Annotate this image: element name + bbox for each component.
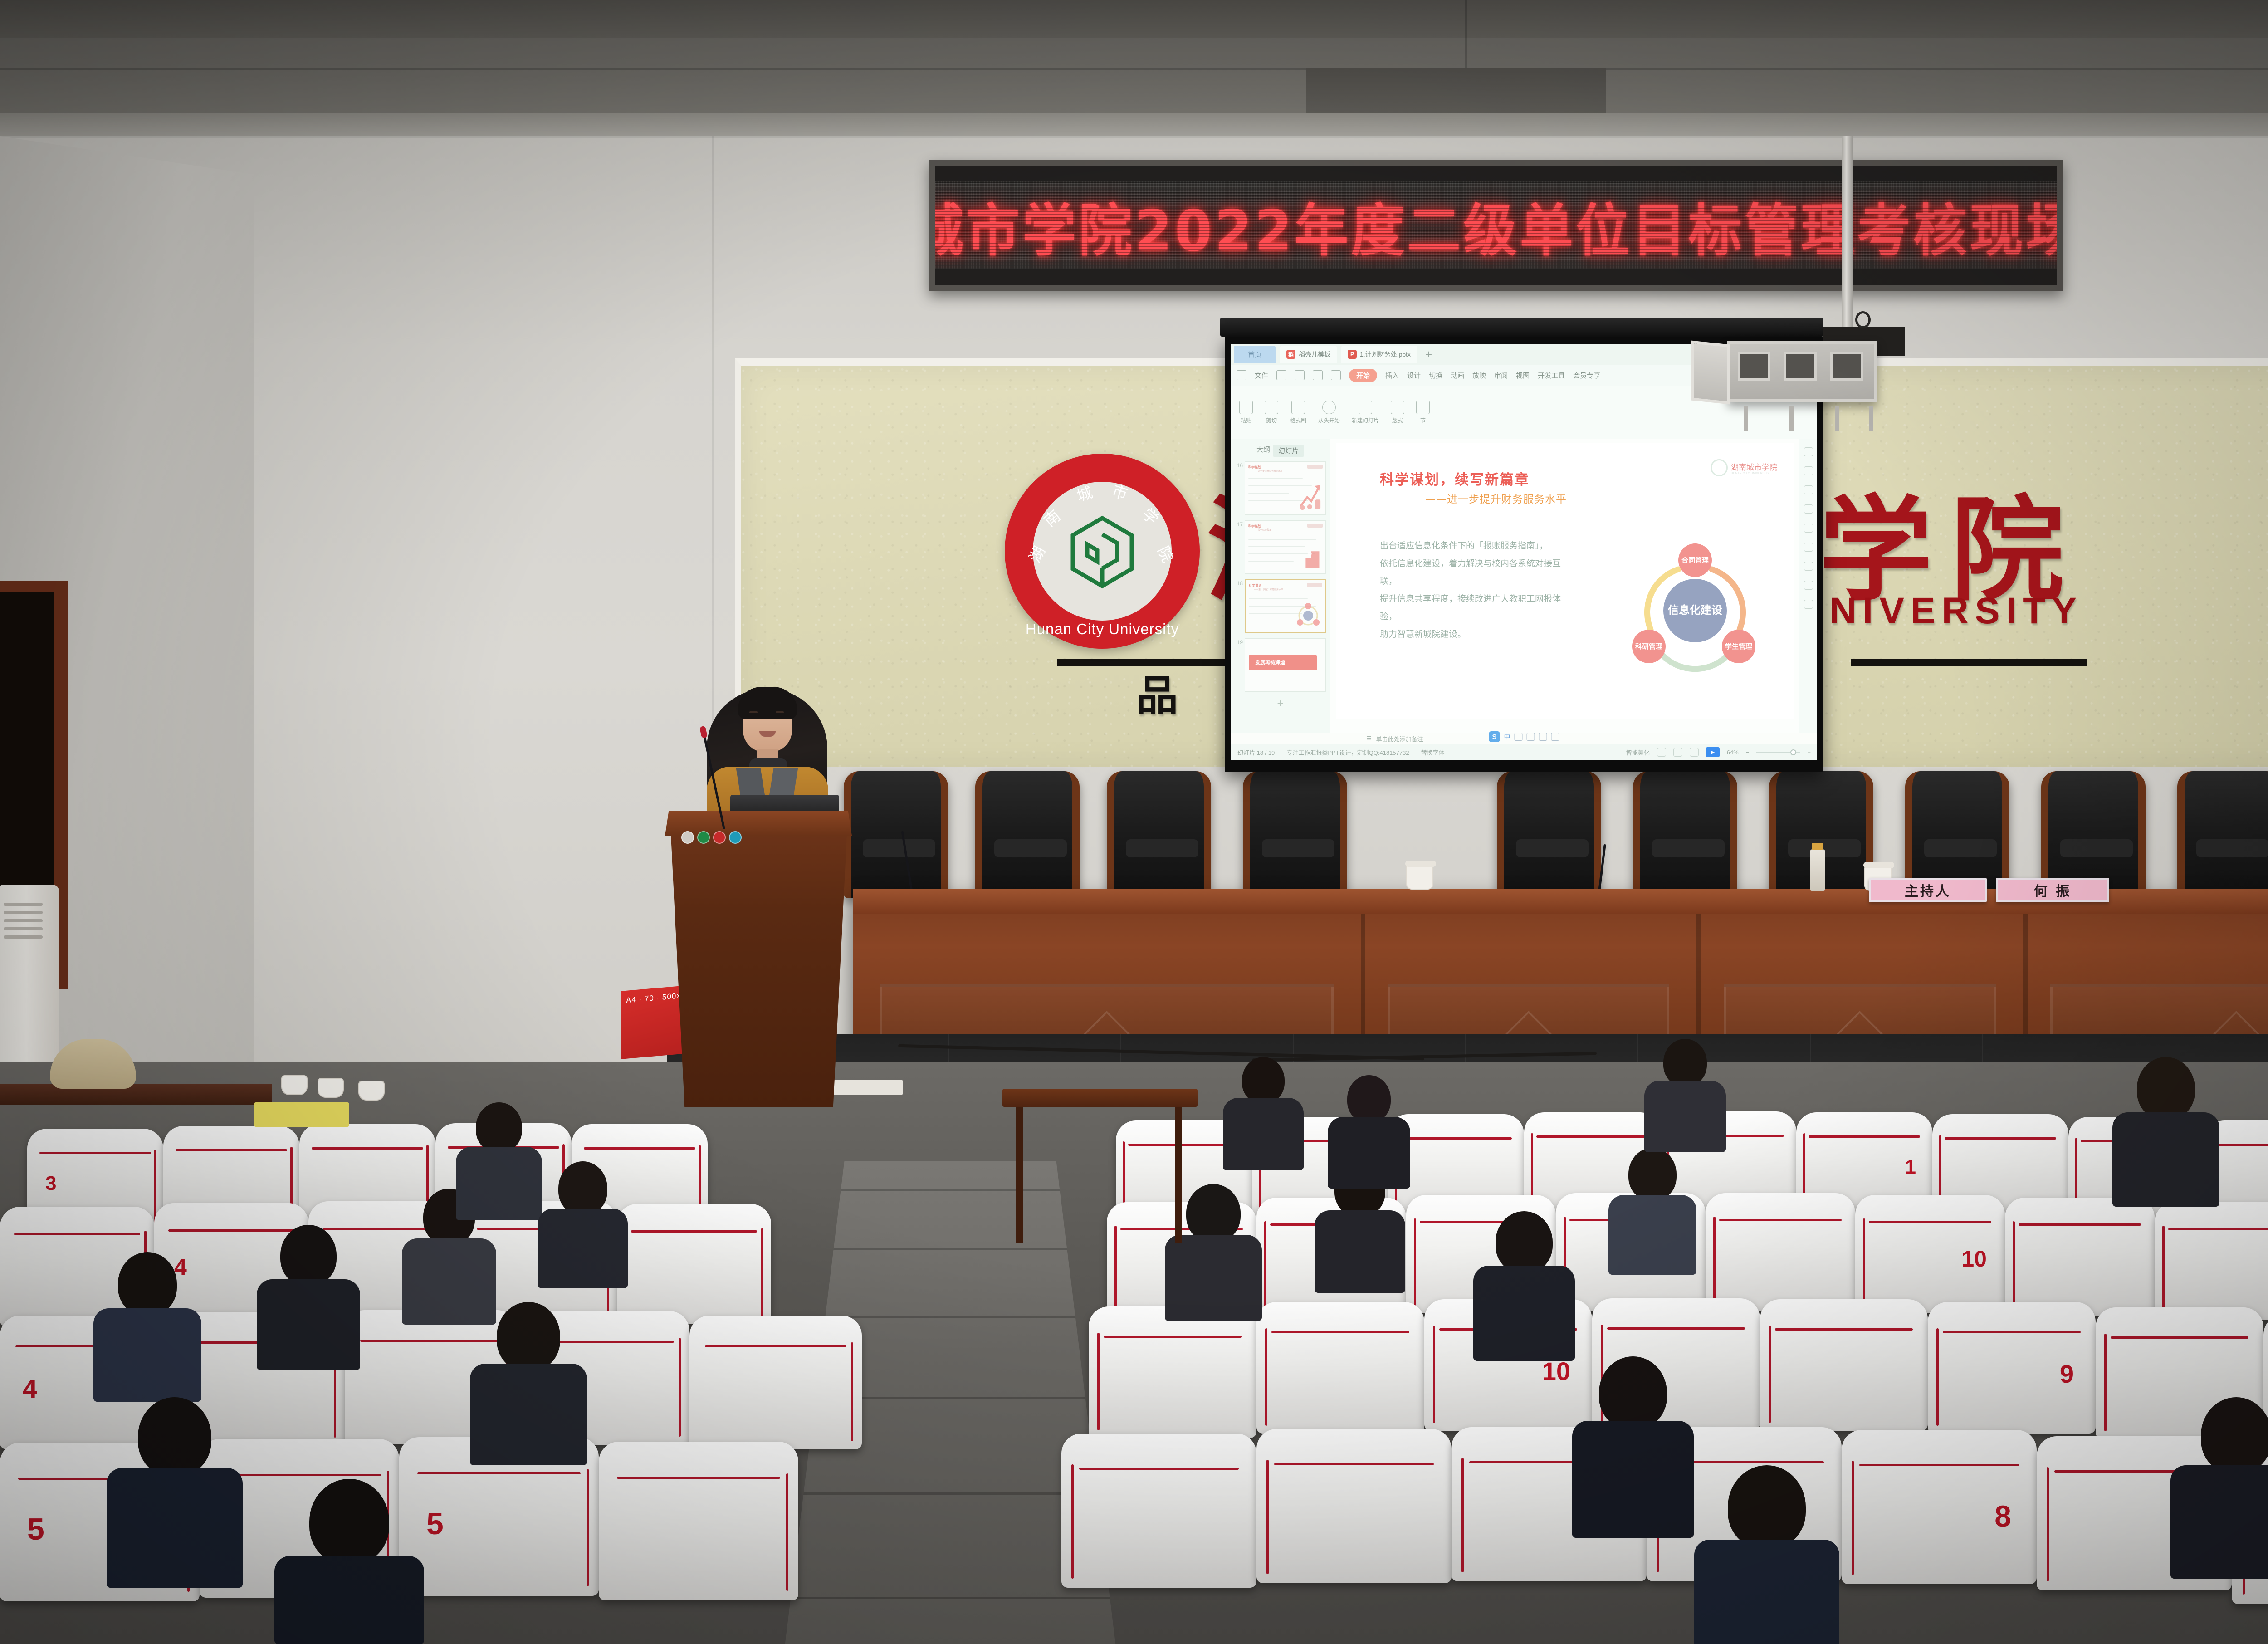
diagram-node-contract: 合同管理	[1678, 543, 1712, 577]
projected-image: 首页 稻 稻壳儿模板 P 1.计划财务处.pptx + 文件	[1231, 344, 1817, 760]
teacup	[318, 1078, 344, 1098]
ribbon-button-start-show[interactable]: 从头开始	[1318, 401, 1340, 424]
audience-seat[interactable]	[599, 1442, 798, 1600]
name-placard-host: 主持人	[1869, 878, 1987, 902]
university-emblem: 湖 南 城 市 学 院 Hunan City University	[1005, 454, 1200, 649]
new-slide-icon	[1359, 401, 1372, 414]
section-icon	[1416, 401, 1430, 414]
audience-member	[272, 1479, 426, 1644]
slide-logo-subtext: HUNAN CITY UNIVERSITY	[1731, 472, 1777, 475]
thumbnail-number: 17	[1235, 520, 1243, 528]
projection-screen-housing	[1220, 318, 1823, 337]
zoom-out-button[interactable]: −	[1746, 749, 1750, 756]
executive-chair[interactable]	[1633, 771, 1737, 898]
slide-subtitle: ——进一步提升财务服务水平	[1425, 490, 1567, 506]
audience-seat[interactable]	[1256, 1429, 1452, 1583]
water-bottle	[1810, 849, 1825, 891]
slide-logo-text: 湖南城市学院	[1731, 461, 1777, 472]
audience-member	[1642, 1039, 1728, 1152]
ribbon-button-format-painter[interactable]: 格式刷	[1290, 401, 1306, 424]
podium-badge-row	[681, 831, 742, 844]
slide-editing-area[interactable]: 湖南城市学院 HUNAN CITY UNIVERSITY 科学谋划，续写新篇章 …	[1330, 439, 1799, 733]
audience-member	[1325, 1075, 1413, 1189]
ribbon-tab-member[interactable]: 会员专享	[1573, 371, 1600, 380]
ribbon-tab-home[interactable]: 开始	[1349, 369, 1377, 382]
status-bar: 幻灯片 18 / 19 专注工作汇报类PPT设计，定制QQ:418157732 …	[1231, 744, 1817, 760]
ceiling-beam-recess	[1306, 68, 1606, 113]
notes-pane[interactable]: ☰ 单击此处添加备注	[1330, 733, 1799, 744]
led-frame-top	[935, 166, 2057, 181]
emblem-english-text: Hunan City University	[1005, 621, 1200, 638]
redo-icon[interactable]	[1331, 370, 1341, 380]
play-icon	[1322, 401, 1336, 414]
ime-toolbox-icon[interactable]	[1539, 733, 1547, 741]
audience-member	[1692, 1465, 1842, 1644]
shapes-icon[interactable]	[1804, 504, 1813, 514]
executive-chair[interactable]	[1243, 771, 1347, 898]
thumb-logo-icon	[1307, 583, 1322, 587]
ribbon-tab-animation[interactable]: 动画	[1451, 371, 1464, 380]
clock-icon[interactable]	[1804, 543, 1813, 552]
ribbon-tab-insert[interactable]: 插入	[1385, 371, 1399, 380]
name-placard-name: 何 振	[1996, 878, 2109, 902]
ribbon-tab-design[interactable]: 设计	[1407, 371, 1421, 380]
side-tea-table	[0, 1084, 272, 1105]
podium-badge	[697, 831, 710, 844]
thumbnail-row[interactable]: 17 科学谋划 ——深化综合改革	[1235, 520, 1326, 574]
new-tab-button[interactable]: +	[1422, 347, 1436, 362]
wall-seam	[0, 136, 2268, 138]
ribbon-button-new-slide-label: 新建幻灯片	[1352, 416, 1379, 424]
ribbon-button-paste[interactable]: 粘贴	[1239, 401, 1253, 424]
ribbon-tab-slideshow[interactable]: 放映	[1472, 371, 1486, 380]
ribbon-tab-view[interactable]: 视图	[1516, 371, 1530, 380]
seat-number: 3	[45, 1172, 56, 1195]
save-icon[interactable]	[1276, 370, 1286, 380]
ime-toolbar[interactable]: S 中	[1489, 731, 1559, 742]
status-right-group: 智能美化 ▶ 64% − +	[1626, 747, 1811, 757]
presenter-fringe	[738, 687, 797, 719]
ribbon-tab-transition[interactable]: 切换	[1429, 371, 1442, 380]
replace-font-button[interactable]: 替换字体	[1421, 748, 1445, 757]
slide-body-line: 依托信息化建设，着力解决与校内各系统对接互联，	[1380, 555, 1575, 590]
ribbon-tab-review[interactable]: 审阅	[1494, 371, 1508, 380]
led-screen: 湖南城市学院2022年度二级单位目标管理考核现场述职	[935, 166, 2057, 285]
slide-corner-logo: 湖南城市学院 HUNAN CITY UNIVERSITY	[1711, 459, 1777, 476]
audience-seat[interactable]	[1256, 1302, 1424, 1434]
slide-body-line: 助力智慧新城院建设。	[1380, 626, 1575, 643]
ime-menu-icon[interactable]	[1551, 733, 1559, 741]
wps-tab-template[interactable]: 稻 稻壳儿模板	[1280, 346, 1337, 363]
seat-number: 5	[27, 1512, 44, 1547]
audience-seat[interactable]	[2005, 1198, 2155, 1316]
panel-tabs: 大纲 幻灯片	[1235, 442, 1326, 461]
grid-icon[interactable]	[1804, 600, 1813, 609]
current-slide[interactable]: 湖南城市学院 HUNAN CITY UNIVERSITY 科学谋划，续写新篇章 …	[1336, 443, 1794, 719]
watermark-text: 专注工作汇报类PPT设计，定制QQ:418157732	[1286, 748, 1409, 757]
podium-badge	[713, 831, 726, 844]
audience-seat[interactable]	[2155, 1202, 2268, 1320]
slide-body-line: 出台适应信息化条件下的「报账服务指南」，	[1380, 537, 1575, 555]
thumbnail-row[interactable]: 19 发展再铸辉煌	[1235, 638, 1326, 692]
ceiling-beam	[0, 0, 2268, 38]
executive-chair[interactable]	[844, 771, 948, 898]
audience-member	[1606, 1148, 1699, 1275]
ribbon-button-new-slide[interactable]: 新建幻灯片	[1352, 401, 1379, 424]
executive-chair[interactable]	[2177, 771, 2268, 898]
zoom-level: 64%	[1727, 749, 1739, 756]
seat-number: 4	[23, 1374, 37, 1404]
reading-view-icon[interactable]	[1690, 748, 1699, 757]
paste-icon	[1239, 401, 1253, 414]
ribbon-button-layout-label: 版式	[1392, 416, 1403, 424]
wps-home-tab[interactable]: 首页	[1234, 346, 1276, 363]
seat-number: 10	[1961, 1246, 1987, 1272]
diagram-node-research: 科研管理	[1632, 630, 1666, 663]
projector-cage-window	[1784, 352, 1817, 381]
slide-cycle-diagram: 信息化建设 合同管理 学生管理 科研管理	[1625, 533, 1765, 683]
sogou-logo-icon: S	[1489, 731, 1500, 742]
aisle-side-table	[1002, 1089, 1198, 1107]
ime-mode-label[interactable]: 中	[1504, 732, 1510, 741]
ceiling-projector-cage	[1727, 341, 1877, 402]
seat-number: 8	[1994, 1499, 2011, 1533]
cloud-icon[interactable]	[1804, 562, 1813, 571]
audience-member	[454, 1102, 544, 1220]
seat-number: 5	[426, 1506, 444, 1541]
layers-icon[interactable]	[1804, 485, 1813, 494]
ribbon-button-layout[interactable]: 版式	[1391, 401, 1404, 424]
ime-emoji-icon[interactable]	[1527, 733, 1535, 741]
zoom-in-button[interactable]: +	[1807, 749, 1811, 756]
teacup	[358, 1081, 385, 1101]
diagram-node-student: 学生管理	[1722, 630, 1755, 663]
ime-keyboard-icon[interactable]	[1515, 733, 1523, 741]
slide-thumbnail-panel[interactable]: 大纲 幻灯片 16 科学谋划 ——进一步提升财务服务水平	[1231, 439, 1330, 733]
tea-mug	[1406, 864, 1433, 890]
audience-seat[interactable]: 9	[1928, 1302, 2096, 1434]
print-icon[interactable]	[1295, 370, 1305, 380]
start-slideshow-button[interactable]: ▶	[1706, 747, 1720, 757]
right-tool-rail	[1799, 439, 1817, 733]
wall-character-pin: 品	[1136, 662, 1178, 723]
audience-seat[interactable]	[617, 1204, 771, 1324]
audience-member	[2109, 1057, 2223, 1207]
ceiling-conduit-pipe	[1842, 136, 1853, 327]
picture-icon[interactable]	[1804, 524, 1813, 533]
panel-tab-slides[interactable]: 幻灯片	[1273, 445, 1304, 457]
thumbnail-row[interactable]: 18 科学谋划 ——进一步提升财务服务水平	[1235, 579, 1326, 633]
scissors-icon	[1265, 401, 1278, 414]
thumb-logo-icon	[1307, 524, 1323, 528]
sorter-view-icon[interactable]	[1673, 748, 1682, 757]
ribbon-button-section-label: 节	[1420, 416, 1426, 424]
wps-presentation-app: 首页 稻 稻壳儿模板 P 1.计划财务处.pptx + 文件	[1231, 344, 1817, 760]
menu-icon[interactable]	[1237, 370, 1246, 380]
projector-cage-window	[1830, 352, 1863, 381]
audience-seat[interactable]: 8	[1842, 1430, 2037, 1584]
wall-accent-rail-right	[1851, 659, 2087, 666]
ribbon-tab-developer[interactable]: 开发工具	[1538, 371, 1565, 380]
wps-tab-template-label: 稻壳儿模板	[1299, 350, 1330, 359]
wps-tab-document-label: 1.计划财务处.pptx	[1360, 350, 1411, 359]
audience-member	[467, 1302, 590, 1465]
seat-number: 1	[1905, 1156, 1916, 1179]
diagram-center-label: 信息化建设	[1668, 604, 1722, 617]
growth-chart-icon	[1298, 483, 1323, 511]
slide-counter: 幻灯片 18 / 19	[1237, 748, 1275, 757]
slide-thumbnail[interactable]: 科学谋划 ——进一步提升财务服务水平	[1245, 461, 1326, 515]
podium-badge	[729, 831, 742, 844]
podium	[670, 826, 847, 1107]
wall-seam-vertical	[712, 136, 714, 771]
audience-member	[535, 1161, 631, 1288]
format-painter-icon	[1291, 401, 1305, 414]
seat-number: 9	[2060, 1359, 2074, 1389]
slide-body-line: 提升信息共享程度，接续改进广大教职工网报体验，	[1380, 590, 1575, 626]
slide-thumbnail[interactable]: 发展再铸辉煌	[1245, 638, 1326, 692]
ribbon-button-start-show-label: 从头开始	[1318, 416, 1340, 424]
cycle-diagram-icon	[1294, 602, 1322, 628]
thumbnail-number: 16	[1235, 461, 1243, 469]
panel-tab-outline[interactable]: 大纲	[1256, 445, 1270, 457]
audience-seat[interactable]	[1061, 1434, 1256, 1588]
audience-member	[1220, 1057, 1306, 1170]
slide-body-text: 出台适应信息化条件下的「报账服务指南」， 依托信息化建设，着力解决与校内各系统对…	[1380, 537, 1575, 643]
add-slide-button[interactable]: +	[1235, 697, 1326, 710]
audience-member	[1569, 1356, 1696, 1538]
ribbon-tab-file[interactable]: 文件	[1255, 371, 1268, 380]
zoom-slider-knob[interactable]	[1790, 749, 1796, 755]
podium-badge	[681, 831, 694, 844]
thumbnail-number: 19	[1235, 638, 1243, 646]
template-icon: 稻	[1286, 350, 1295, 359]
wps-tab-document[interactable]: P 1.计划财务处.pptx	[1341, 346, 1417, 363]
slide-title: 科学谋划，续写新篇章	[1380, 468, 1530, 489]
settings-icon[interactable]	[1804, 447, 1813, 456]
audience-member	[254, 1225, 363, 1370]
executive-chair[interactable]	[1497, 771, 1601, 898]
ribbon-button-format-painter-label: 格式刷	[1290, 416, 1306, 424]
audience-seat[interactable]	[1760, 1299, 1928, 1431]
led-banner-text: 湖南城市学院2022年度二级单位目标管理考核现场述职	[935, 184, 2057, 266]
executive-chair[interactable]	[975, 771, 1080, 898]
audience-member	[2168, 1397, 2268, 1579]
audience-seat[interactable]	[1089, 1306, 1256, 1438]
stairs-flag-icon	[1298, 542, 1323, 570]
paper-box-label: A4 · 70 · 500×8	[626, 991, 686, 1005]
slide-thumbnail-selected[interactable]: 科学谋划 ——进一步提升财务服务水平	[1245, 579, 1326, 633]
audience-seat[interactable]	[689, 1316, 862, 1449]
ribbon-button-section[interactable]: 节	[1416, 401, 1430, 424]
slide-logo-ring-icon	[1711, 459, 1728, 476]
ribbon-button-cut[interactable]: 剪切	[1265, 401, 1278, 424]
slide-thumbnail[interactable]: 科学谋划 ——深化综合改革	[1245, 520, 1326, 574]
executive-chair[interactable]	[1107, 771, 1211, 898]
align-icon[interactable]	[1804, 466, 1813, 475]
wall-english-signage: UNIVERSITY	[1796, 590, 2083, 632]
ribbon-button-paste-label: 粘贴	[1241, 416, 1251, 424]
ribbon-button-cut-label: 剪切	[1266, 416, 1277, 424]
conference-hall-photo: 湖南城市学院2022年度二级单位目标管理考核现场述职 湖 南 城	[0, 0, 2268, 1644]
emblem-chinese-ring: 湖 南 城 市 学 院	[1005, 454, 1200, 649]
speaker-hook	[1855, 311, 1871, 328]
yellow-folder	[254, 1102, 349, 1127]
comment-icon[interactable]	[1804, 581, 1813, 590]
zoom-slider[interactable]	[1756, 752, 1800, 753]
layout-icon	[1391, 401, 1404, 414]
audience-member	[91, 1252, 204, 1402]
diagram-center-node: 信息化建设	[1663, 579, 1727, 642]
led-frame-bottom	[935, 269, 2057, 285]
audience-member	[104, 1397, 245, 1588]
thumb-logo-icon	[1307, 465, 1323, 469]
pptx-icon: P	[1348, 350, 1357, 359]
normal-view-icon[interactable]	[1657, 748, 1666, 757]
thumbnail-row[interactable]: 16 科学谋划 ——进一步提升财务服务水平	[1235, 461, 1326, 515]
audience-seat[interactable]	[1706, 1193, 1855, 1311]
projector-cage-door[interactable]	[1691, 341, 1730, 405]
projector-cage-window	[1738, 352, 1770, 381]
ceiling-seam	[0, 68, 2268, 70]
undo-icon[interactable]	[1313, 370, 1323, 380]
thumbnail-number: 18	[1235, 579, 1243, 587]
smart-beautify-button[interactable]: 智能美化	[1626, 748, 1650, 757]
audience-member	[1470, 1211, 1579, 1361]
notes-placeholder: 单击此处添加备注	[1376, 734, 1423, 743]
led-banner: 湖南城市学院2022年度二级单位目标管理考核现场述职	[929, 160, 2063, 291]
audience-seat[interactable]: 10	[1855, 1195, 2005, 1313]
teacup	[281, 1075, 308, 1095]
notes-icon: ☰	[1366, 735, 1372, 742]
